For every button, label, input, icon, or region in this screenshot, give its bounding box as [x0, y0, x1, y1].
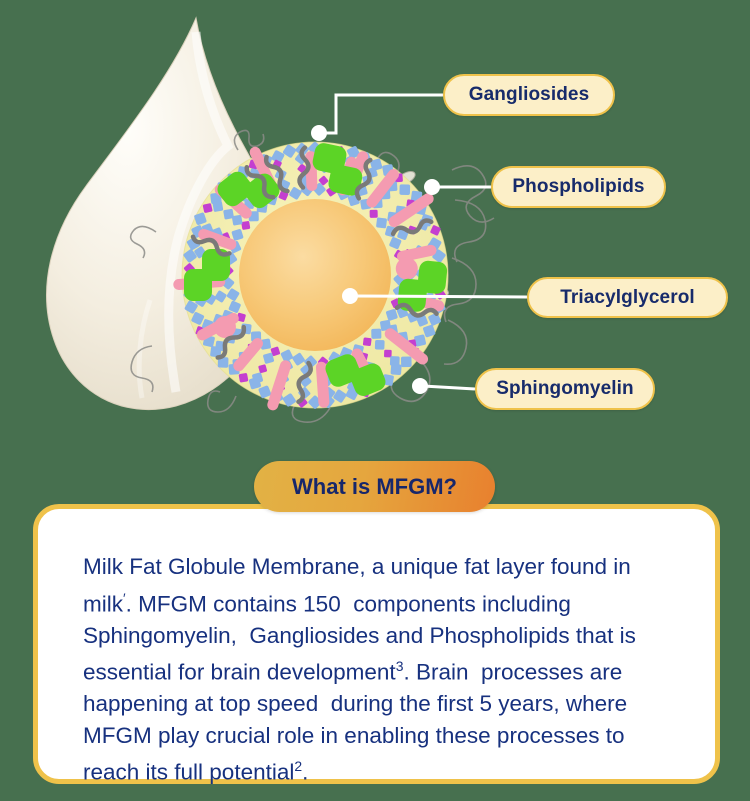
- leader-triacylglycerol: [353, 296, 527, 297]
- mfgm-infographic: Gangliosides Phospholipids Triacylglycer…: [0, 0, 750, 801]
- callout-label-sphingomyelin: Sphingomyelin: [496, 378, 633, 400]
- leader-gangliosides: [322, 95, 443, 133]
- callout-gangliosides[interactable]: Gangliosides: [443, 74, 615, 116]
- callout-label-gangliosides: Gangliosides: [469, 84, 590, 106]
- mfgm-description-card: Milk Fat Globule Membrane, a unique fat …: [33, 504, 720, 784]
- triacylglycerol-core: [239, 199, 391, 351]
- anchor-dot-triacylglycerol: [342, 288, 358, 304]
- anchor-dot-sphingomyelin: [412, 378, 428, 394]
- callout-label-triacylglycerol: Triacylglycerol: [560, 287, 695, 309]
- callout-phospholipids[interactable]: Phospholipids: [491, 166, 666, 208]
- callout-triacylglycerol[interactable]: Triacylglycerol: [527, 277, 728, 318]
- callout-label-phospholipids: Phospholipids: [512, 176, 644, 198]
- anchor-dot-gangliosides: [311, 125, 327, 141]
- banner-label: What is MFGM?: [292, 474, 457, 500]
- callout-sphingomyelin[interactable]: Sphingomyelin: [475, 368, 655, 410]
- anchor-dot-phospholipids: [424, 179, 440, 195]
- what-is-mfgm-banner: What is MFGM?: [254, 461, 495, 512]
- mfgm-description-text: Milk Fat Globule Membrane, a unique fat …: [83, 551, 653, 788]
- leader-sphingomyelin: [423, 386, 475, 389]
